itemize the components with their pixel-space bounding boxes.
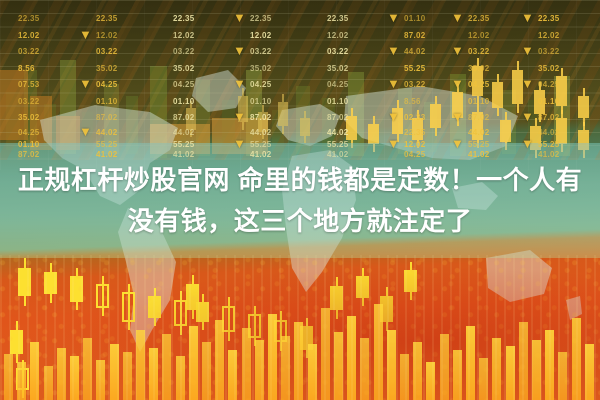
price-value: 87.02 xyxy=(173,113,195,122)
price-value: 87.02 xyxy=(404,31,426,40)
price-value: 44.02 xyxy=(327,128,349,137)
price-value: 35.02 xyxy=(250,64,272,73)
price-value: 55.25 xyxy=(468,140,490,149)
price-value: 44.02 xyxy=(173,128,195,137)
price-value: 41.02 xyxy=(250,150,272,159)
price-value: 02.33 xyxy=(404,113,426,122)
price-value: 12.02 xyxy=(538,31,560,40)
price-value: 55.25 xyxy=(327,140,349,149)
price-value: 35.02 xyxy=(18,113,40,122)
price-value: 87.02 xyxy=(96,113,118,122)
price-value: 87.02 xyxy=(327,113,349,122)
price-value: 01.10 xyxy=(173,97,195,106)
price-value: 03.22 xyxy=(404,80,426,89)
price-value: 04.25 xyxy=(173,80,195,89)
headline-text: 正规杠杆炒股官网 命里的钱都是定数！一个人有 没有钱，这三个地方就注定了 xyxy=(0,160,600,242)
price-value: 87.02 xyxy=(538,113,560,122)
price-value: 22.35 xyxy=(18,14,40,23)
price-value: 01.10 xyxy=(18,140,40,149)
price-value: 04.25 xyxy=(250,80,272,89)
price-value: 22.35 xyxy=(250,14,272,23)
price-value: 22.35 xyxy=(96,14,118,23)
price-value: 03.22 xyxy=(538,47,560,56)
price-value: 07.53 xyxy=(18,80,40,89)
price-value: 03.22 xyxy=(18,97,40,106)
price-value: 87.02 xyxy=(250,113,272,122)
price-value: 12.02 xyxy=(327,31,349,40)
price-value: 8.56 xyxy=(404,97,421,106)
price-value: 55.25 xyxy=(250,140,272,149)
price-value: 41.02 xyxy=(468,150,490,159)
price-value: 03.22 xyxy=(173,47,195,56)
price-value: 01.10 xyxy=(404,14,426,23)
price-value: 55.25 xyxy=(173,140,195,149)
price-value: 01.10 xyxy=(250,97,272,106)
bottom-vertical-lines xyxy=(0,255,600,400)
price-value: 04.25 xyxy=(18,128,40,137)
price-value: 03.22 xyxy=(18,47,40,56)
price-value: 12.02 xyxy=(96,31,118,40)
price-value: 04.25 xyxy=(538,80,560,89)
price-value: 41.02 xyxy=(538,150,560,159)
price-value: 35.02 xyxy=(468,64,490,73)
price-value: 12.02 xyxy=(18,31,40,40)
price-value: 01.10 xyxy=(538,97,560,106)
price-value: 01.10 xyxy=(96,97,118,106)
price-value: 12.02 xyxy=(173,31,195,40)
price-value: 44.02 xyxy=(96,128,118,137)
price-value: 35.02 xyxy=(173,64,195,73)
price-value: 04.25 xyxy=(327,80,349,89)
price-value: 44.02 xyxy=(468,128,490,137)
price-value: 03.22 xyxy=(327,47,349,56)
headline-line-1: 正规杠杆炒股官网 命里的钱都是定数！一个人有 xyxy=(0,160,600,201)
price-value: 87.02 xyxy=(18,150,40,159)
price-value: 22.35 xyxy=(468,14,490,23)
price-value: 01.10 xyxy=(468,97,490,106)
price-value: 87.02 xyxy=(468,113,490,122)
price-value: 12.02 xyxy=(468,31,490,40)
price-value: 04.25 xyxy=(96,80,118,89)
price-value: 22.35 xyxy=(327,14,349,23)
price-value: 04.25 xyxy=(404,150,426,159)
price-value: 01.10 xyxy=(327,97,349,106)
price-value: 55.25 xyxy=(538,140,560,149)
price-value: 55.25 xyxy=(96,140,118,149)
price-value: 55.25 xyxy=(404,64,426,73)
price-value: 03.22 xyxy=(96,47,118,56)
price-value: 8.56 xyxy=(18,64,35,73)
stock-banner-image: 22.3512.0203.228.5607.5303.2235.0204.250… xyxy=(0,0,600,400)
price-value: 35.02 xyxy=(96,64,118,73)
price-value: 22.35 xyxy=(538,14,560,23)
price-value: 12.02 xyxy=(250,31,272,40)
price-value: 44.02 xyxy=(538,128,560,137)
price-value: 44.02 xyxy=(250,128,272,137)
headline-line-2: 没有钱，这三个地方就注定了 xyxy=(0,201,600,242)
price-value: 03.22 xyxy=(250,47,272,56)
price-value: 41.02 xyxy=(327,150,349,159)
price-value: 41.02 xyxy=(96,150,118,159)
price-value: 12.02 xyxy=(404,140,426,149)
price-value: 35.02 xyxy=(538,64,560,73)
price-value: 35.02 xyxy=(327,64,349,73)
price-value: 22.35 xyxy=(173,14,195,23)
price-value: 41.02 xyxy=(173,150,195,159)
price-value: 22.35 xyxy=(404,128,426,137)
price-number-grid: 22.3512.0203.228.5607.5303.2235.0204.250… xyxy=(0,0,600,160)
price-value: 03.22 xyxy=(468,47,490,56)
price-value: 44.02 xyxy=(404,47,426,56)
price-value: 04.25 xyxy=(468,80,490,89)
